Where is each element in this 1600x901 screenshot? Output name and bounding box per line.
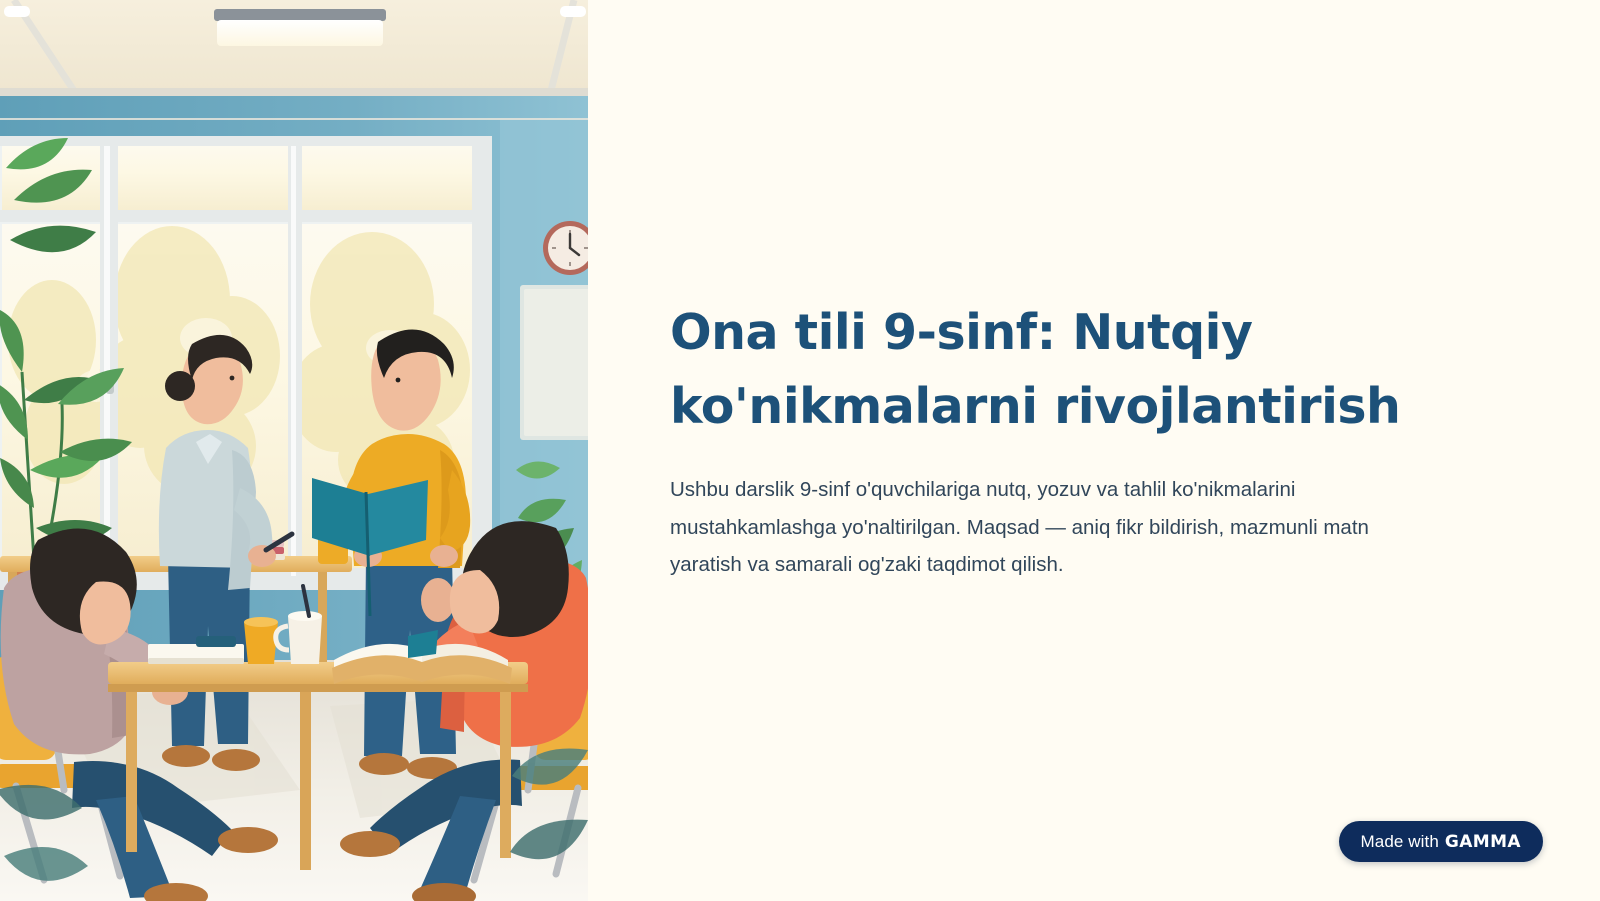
shoe bbox=[218, 827, 278, 853]
badge-prefix-label: Made with bbox=[1361, 832, 1439, 852]
classroom-illustration bbox=[0, 0, 588, 901]
slide-description: Ushbu darslik 9-sinf o'quvchilariga nutq… bbox=[670, 471, 1438, 584]
shoe bbox=[340, 831, 400, 857]
hand-right bbox=[430, 545, 458, 567]
ceiling-trim bbox=[0, 88, 588, 96]
eye bbox=[230, 376, 235, 381]
whiteboard bbox=[520, 285, 588, 440]
classroom-illustration-svg bbox=[0, 0, 588, 901]
eye bbox=[396, 378, 401, 383]
made-with-gamma-badge[interactable]: Made with GAMMA bbox=[1339, 821, 1544, 862]
badge-brand-label: GAMMA bbox=[1445, 832, 1521, 852]
hair-bun bbox=[165, 371, 195, 401]
phone-icon bbox=[196, 636, 236, 647]
text-block: Ona tili 9-sinf: Nutqiy ko'nikmalarni ri… bbox=[670, 296, 1440, 584]
page-title: Ona tili 9-sinf: Nutqiy ko'nikmalarni ri… bbox=[670, 296, 1440, 444]
cup-yellow bbox=[244, 617, 278, 664]
slide-content-panel: Ona tili 9-sinf: Nutqiy ko'nikmalarni ri… bbox=[588, 0, 1600, 901]
ceiling-light-icon bbox=[214, 9, 386, 46]
presentation-slide: Ona tili 9-sinf: Nutqiy ko'nikmalarni ri… bbox=[0, 0, 1600, 901]
